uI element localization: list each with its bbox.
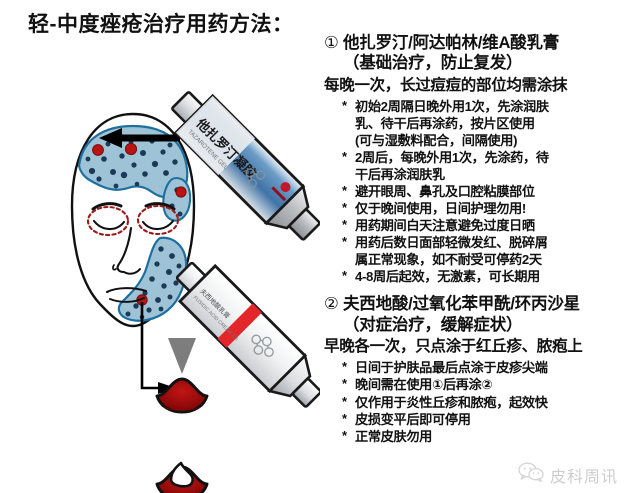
lesion-with-cream-dot xyxy=(157,463,207,493)
list-item: 2周后，每晚外用1次，先涂药，待 干后再涂润肤乳 xyxy=(342,149,628,183)
section-1-bullet-list: 初始2周隔日晚外用1次，先涂润肤 乳、待干后再涂药，按片区使用 (可与湿敷料配合… xyxy=(324,98,628,285)
list-item: 用药期间白天注意避免过度日晒 xyxy=(342,217,628,234)
section-1-heading: ① 他扎罗汀/阿达帕林/维A酸乳膏 xyxy=(324,33,628,53)
section-1: ① 他扎罗汀/阿达帕林/维A酸乳膏 （基础治疗，防止复发） 每晚一次，长过痘痘的… xyxy=(324,33,628,285)
instructions-column: ① 他扎罗汀/阿达帕林/维A酸乳膏 （基础治疗，防止复发） 每晚一次，长过痘痘的… xyxy=(324,33,628,488)
section-1-title: 他扎罗汀/阿达帕林/维A酸乳膏 xyxy=(343,34,559,52)
wechat-icon xyxy=(518,462,544,487)
list-item: 仅作用于炎性丘疹和脓疱，起效快 xyxy=(342,394,628,411)
section-2-number: ② xyxy=(324,295,339,313)
list-item: 4-8周后起效，无激素，可长期用 xyxy=(342,268,628,285)
acne-treatment-infographic: 轻-中度痤疮治疗用药方法： xyxy=(0,0,628,493)
list-item: 用药后数日面部轻微发红、脱碎屑 属正常现象，如不耐受可停药2天 xyxy=(342,234,628,268)
watermark: 皮科周讯 xyxy=(518,462,618,487)
list-item: 日间于护肤品最后点涂于皮疹尖端 xyxy=(342,359,628,376)
list-item: 皮损变平后即可停用 xyxy=(342,411,628,428)
section-1-number: ① xyxy=(324,34,339,52)
section-1-lead: 每晚一次，长过痘痘的部位均需涂抹 xyxy=(324,76,628,96)
arrow-tube2-to-lesion xyxy=(168,338,196,374)
section-2-heading: ② 夫西地酸/过氧化苯甲酰/环丙沙星 xyxy=(324,294,628,314)
face-diagram xyxy=(72,114,194,326)
page-title: 轻-中度痤疮治疗用药方法： xyxy=(28,8,294,38)
watermark-text: 皮科周讯 xyxy=(550,463,618,487)
section-2-title: 夫西地酸/过氧化苯甲酰/环丙沙星 xyxy=(343,295,580,313)
list-item: 初始2周隔日晚外用1次，先涂润肤 乳、待干后再涂药，按片区使用 (可与湿敷料配合… xyxy=(342,98,628,149)
list-item: 正常皮肤勿用 xyxy=(342,428,628,445)
list-item: 仅于晚间使用，日间护理勿用! xyxy=(342,200,628,217)
section-2-subheading: （对症治疗，缓解症状） xyxy=(324,315,628,335)
section-2-lead: 早晚各一次，只点涂于红丘疹、脓疱上 xyxy=(324,337,628,357)
lesion-inflammatory-papule xyxy=(157,379,207,412)
list-item: 避开眼周、鼻孔及口腔粘膜部位 xyxy=(342,183,628,200)
section-2-bullet-list: 日间于护肤品最后点涂于皮疹尖端 晚间需在使用①后再涂② 仅作用于炎性丘疹和脓疱，… xyxy=(324,359,628,444)
affected-zone-temple xyxy=(163,178,190,221)
section-1-subheading: （基础治疗，防止复发） xyxy=(324,53,628,73)
cream-dot xyxy=(171,463,193,486)
illustration-panel: 他扎罗汀凝胶 TAZAROTENE GEL xyxy=(0,38,320,493)
section-2: ② 夫西地酸/过氧化苯甲酰/环丙沙星 （对症治疗，缓解症状） 早晚各一次，只点涂… xyxy=(324,294,628,444)
list-item: 晚间需在使用①后再涂② xyxy=(342,376,628,393)
